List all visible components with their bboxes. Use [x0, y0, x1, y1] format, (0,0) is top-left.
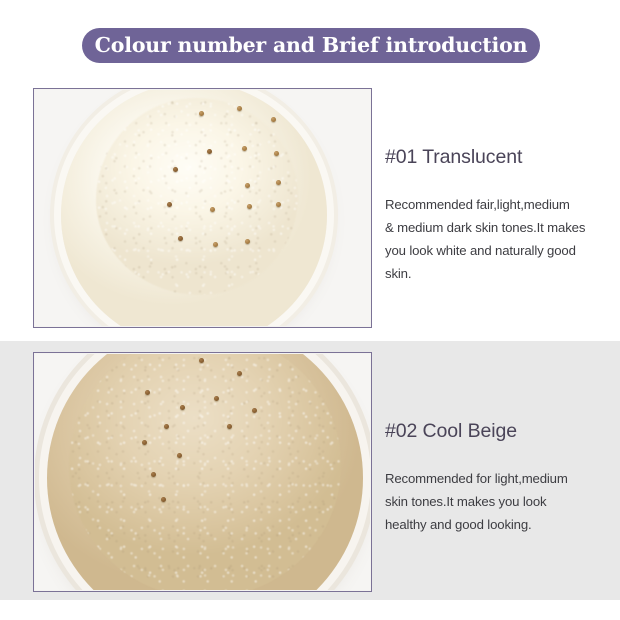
description-line: & medium dark skin tones.It makes	[385, 216, 615, 239]
shade-description-02: Recommended for light,medium skin tones.…	[385, 467, 615, 536]
powder-speck	[173, 167, 178, 172]
powder-speck	[237, 106, 242, 111]
powder-speck	[142, 440, 147, 445]
powder-jar-image-01	[61, 90, 327, 326]
powder-speck	[213, 242, 218, 247]
powder-speck	[177, 453, 182, 458]
powder-texture-02	[69, 354, 341, 590]
powder-speck	[274, 151, 279, 156]
shade-info-02: #02 Cool Beige Recommended for light,med…	[385, 420, 615, 536]
description-line: you look white and naturally good	[385, 239, 615, 262]
powder-surface-02	[69, 354, 341, 590]
description-line: Recommended for light,medium	[385, 467, 615, 490]
powder-surface-01	[96, 98, 298, 295]
powder-texture-01	[96, 98, 298, 295]
shade-photo-02	[35, 354, 370, 590]
powder-speck	[237, 371, 242, 376]
page-title: Colour number and Brief introduction	[95, 35, 528, 56]
product-shade-infographic: Colour number and Brief introduction	[0, 0, 620, 620]
shade-description-01: Recommended fair,light,medium & medium d…	[385, 193, 615, 285]
shade-title-02: #02 Cool Beige	[385, 420, 615, 443]
powder-jar-image-02	[47, 354, 363, 590]
powder-speck	[151, 472, 156, 477]
shade-photo-01	[35, 90, 370, 326]
powder-speck	[199, 358, 204, 363]
description-line: Recommended fair,light,medium	[385, 193, 615, 216]
powder-speck	[245, 239, 250, 244]
powder-speck	[161, 497, 166, 502]
powder-speck	[210, 207, 215, 212]
page-title-banner: Colour number and Brief introduction	[82, 28, 540, 63]
powder-speck	[271, 117, 276, 122]
powder-speck	[245, 183, 250, 188]
powder-speck	[145, 390, 150, 395]
shade-photo-panel-01	[33, 88, 372, 328]
description-line: skin tones.It makes you look	[385, 490, 615, 513]
description-line: healthy and good looking.	[385, 513, 615, 536]
shade-title-01: #01 Translucent	[385, 146, 615, 169]
shade-info-01: #01 Translucent Recommended fair,light,m…	[385, 146, 615, 285]
powder-speck	[242, 146, 247, 151]
shade-photo-panel-02	[33, 352, 372, 592]
description-line: skin.	[385, 262, 615, 285]
powder-speck	[207, 149, 212, 154]
